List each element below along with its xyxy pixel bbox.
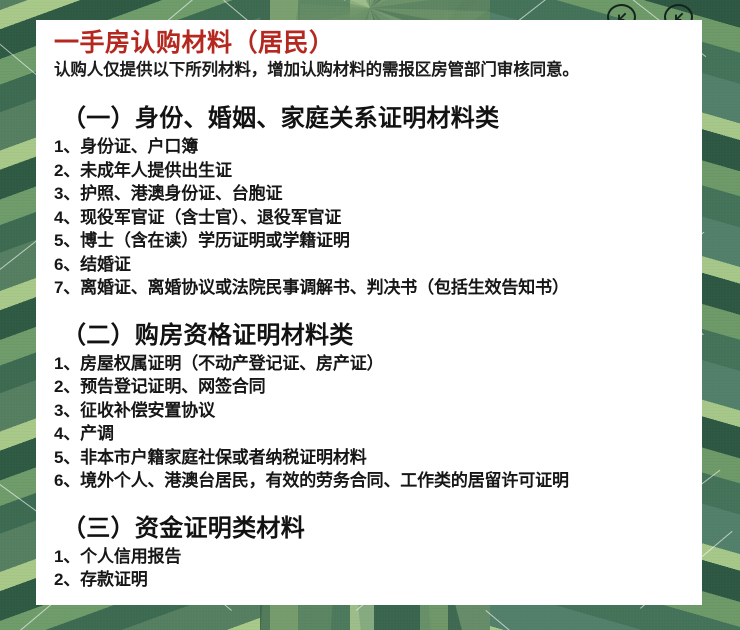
section-2: （二）购房资格证明材料类1、房屋权属证明（不动产登记证、房产证）2、预告登记证明… [54,320,688,493]
list-item: 3、护照、港澳身份证、台胞证 [54,182,688,206]
section-heading: （二）购房资格证明材料类 [62,320,688,351]
section-item-list: 1、房屋权属证明（不动产登记证、房产证）2、预告登记证明、网签合同3、征收补偿安… [54,352,688,493]
list-item: 1、身份证、户口簿 [54,135,688,159]
section-3: （三）资金证明类材料1、个人信用报告2、存款证明 [54,513,688,592]
page-subtitle: 认购人仅提供以下所列材料，增加认购材料的需报区房管部门审核同意。 [54,59,688,81]
list-item: 1、房屋权属证明（不动产登记证、房产证） [54,352,688,376]
list-item: 4、产调 [54,422,688,446]
list-item: 5、非本市户籍家庭社保或者纳税证明材料 [54,446,688,470]
section-heading: （三）资金证明类材料 [62,513,688,544]
list-item: 2、存款证明 [54,568,688,592]
list-item: 5、博士（含在读）学历证明或学籍证明 [54,229,688,253]
list-item: 3、征收补偿安置协议 [54,399,688,423]
section-1: （一）身份、婚姻、家庭关系证明材料类1、身份证、户口簿2、未成年人提供出生证3、… [54,103,688,300]
sections-container: （一）身份、婚姻、家庭关系证明材料类1、身份证、户口簿2、未成年人提供出生证3、… [54,103,688,592]
list-item: 4、现役军官证（含士官）、退役军官证 [54,206,688,230]
section-item-list: 1、个人信用报告2、存款证明 [54,545,688,592]
list-item: 6、结婚证 [54,253,688,277]
list-item: 2、未成年人提供出生证 [54,159,688,183]
content-card: 一手房认购材料（居民） 认购人仅提供以下所列材料，增加认购材料的需报区房管部门审… [36,20,702,605]
list-item: 6、境外个人、港澳台居民，有效的劳务合同、工作类的居留许可证明 [54,469,688,493]
page-title: 一手房认购材料（居民） [54,28,688,58]
list-item: 7、离婚证、离婚协议或法院民事调解书、判决书（包括生效告知书） [54,276,688,300]
section-item-list: 1、身份证、户口簿2、未成年人提供出生证3、护照、港澳身份证、台胞证4、现役军官… [54,135,688,300]
slide-canvas: 一手房认购材料（居民） 认购人仅提供以下所列材料，增加认购材料的需报区房管部门审… [0,0,740,630]
list-item: 2、预告登记证明、网签合同 [54,375,688,399]
section-heading: （一）身份、婚姻、家庭关系证明材料类 [62,103,688,134]
list-item: 1、个人信用报告 [54,545,688,569]
